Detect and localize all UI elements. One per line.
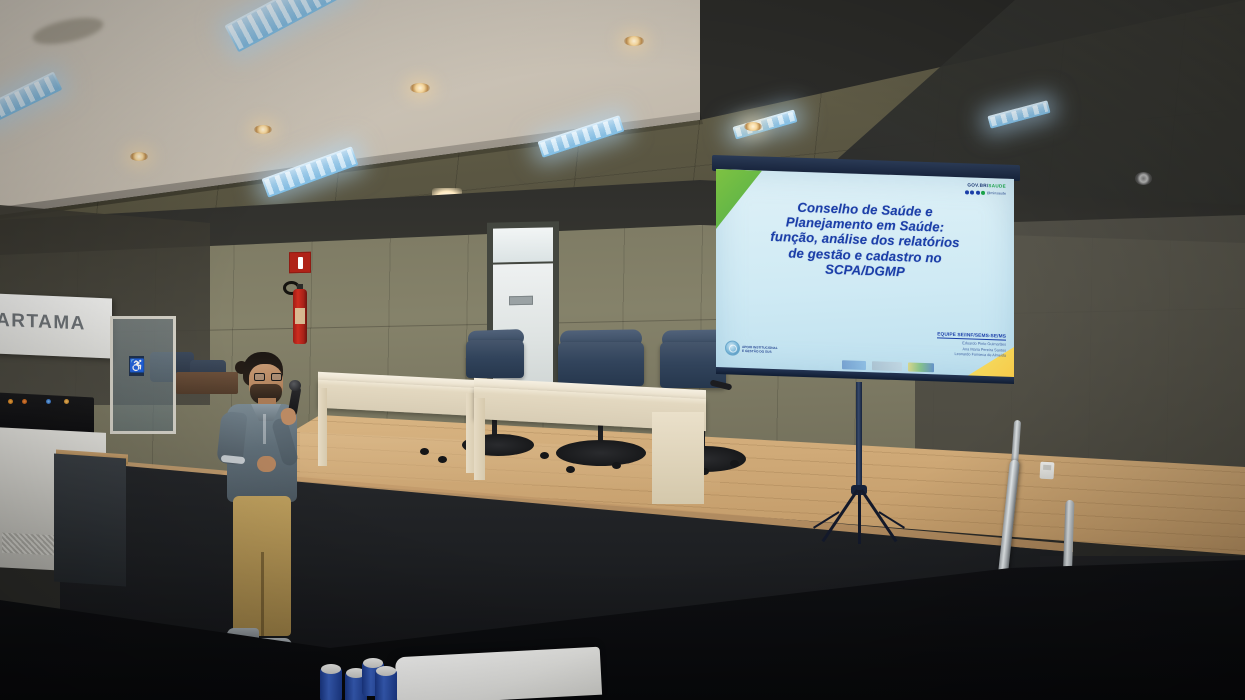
fire-extinguisher-label	[295, 308, 305, 324]
left-hand	[257, 456, 276, 472]
team-member-3: Leonardo Fonseca de Almeida	[937, 351, 1006, 358]
glasses-icon	[254, 373, 282, 381]
govbr-prefix: GOV.BR/	[967, 182, 988, 188]
facebook-icon	[965, 190, 969, 194]
team-heading: EQUIPE SE/INF/SEMS-SE/MS	[937, 332, 1006, 341]
govbr-suffix: SAUDE	[988, 183, 1006, 189]
institutional-logo-text: APOIO INSTITUCIONAL E GESTÃO DO SUS	[742, 344, 778, 353]
govbr-logo: GOV.BR/SAUDE	[967, 182, 1006, 188]
wheelchair-icon	[129, 356, 144, 376]
trouser-seam	[261, 552, 264, 636]
chair-wheel-1b	[438, 456, 447, 463]
led-indicator-orange	[22, 399, 27, 404]
led-indicator-blue	[46, 399, 51, 404]
partner-logo-ministry-icon	[872, 361, 902, 371]
led-indicator-amber	[8, 399, 13, 404]
globe-icon	[725, 340, 740, 355]
downlight-4	[624, 36, 644, 46]
institutional-logo: APOIO INSTITUCIONAL E GESTÃO DO SUS	[725, 340, 778, 357]
slide-team-block: EQUIPE SE/INF/SEMS-SE/MS Eduardo Pinto G…	[937, 332, 1006, 358]
chair-wheel-1a	[420, 448, 429, 455]
tripod-pole	[856, 382, 862, 490]
chair-wheel-3b	[730, 460, 739, 467]
auditorium-photo: GOV.BR/SAUDE @minsaude Conselho de Saúde…	[0, 0, 1245, 700]
twitter-icon	[976, 191, 980, 195]
table-leg-2a	[474, 398, 485, 480]
instagram-icon	[970, 190, 974, 194]
youtube-icon	[981, 191, 985, 195]
partner-logo-sus-icon	[842, 360, 866, 370]
chair-2	[558, 342, 644, 386]
downlight-1	[130, 152, 148, 161]
tripod-leg-center	[858, 490, 861, 544]
social-handle: @minsaude	[987, 191, 1006, 196]
door-transom-glass	[493, 227, 553, 262]
light-switch[interactable]	[1040, 462, 1055, 480]
chair-wheel-2b	[612, 462, 621, 469]
bottle-cap-1	[321, 664, 341, 674]
ceiling-sensor	[1135, 172, 1152, 185]
fire-extinguisher-sign-icon	[289, 252, 311, 273]
chair-1	[466, 340, 524, 378]
downlight-2	[254, 125, 272, 134]
slide-surface: GOV.BR/SAUDE @minsaude Conselho de Saúde…	[716, 169, 1014, 381]
podium	[54, 453, 126, 586]
downlight-3	[410, 83, 430, 93]
bottle-cap-4	[376, 666, 396, 676]
slide-title: Conselho de Saúde e Planejamento em Saúd…	[730, 198, 1000, 283]
partner-logo-brasil-icon	[908, 362, 934, 372]
social-icons-row: @minsaude	[965, 190, 1006, 195]
led-indicator-amber-2	[64, 399, 69, 404]
partner-logos-row	[842, 360, 934, 372]
shirt-placket	[263, 414, 266, 444]
door-sign-plate	[509, 296, 533, 305]
projection-screen: GOV.BR/SAUDE @minsaude Conselho de Saúde…	[712, 160, 1020, 385]
chair-wheel-2c	[566, 466, 575, 473]
table-leg-2b	[652, 412, 704, 504]
wall-sign-text: ARTAMA	[0, 310, 106, 337]
chair-wheel-2a	[540, 452, 549, 459]
microphone-head	[289, 380, 301, 391]
chair-base-2	[556, 440, 646, 466]
downlight-5	[744, 122, 762, 131]
